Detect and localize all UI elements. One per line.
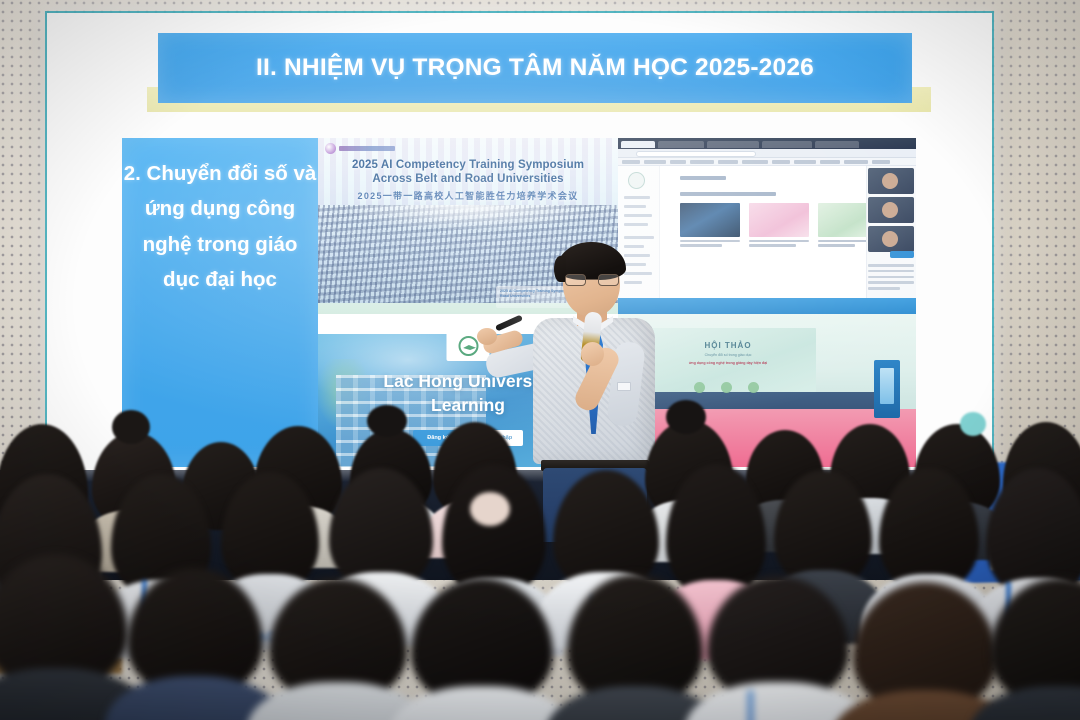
browser-tab: [762, 141, 812, 148]
participant-tiles: [868, 168, 914, 255]
bookmark-item: [794, 160, 816, 164]
symposium-title-line1: 2025 AI Competency Training Symposium: [318, 159, 618, 171]
meeting-action-button: [890, 251, 914, 258]
browser-tabs: [621, 141, 859, 148]
audience-person: [560, 570, 710, 720]
sidebar-item: [624, 214, 652, 217]
course-thumbnail: [749, 203, 809, 237]
browser-bookmarks-bar: [618, 158, 916, 166]
course-thumbnail: [680, 203, 740, 237]
slide-title-text: II. NHIỆM VỤ TRỌNG TÂM NĂM HỌC 2025-2026: [256, 54, 814, 82]
bookmark-item: [644, 160, 666, 164]
bookmark-item: [690, 160, 714, 164]
meeting-notes-list: [868, 264, 914, 293]
sidebar-item: [624, 223, 648, 226]
meeting-participants-panel: [866, 166, 916, 298]
audience-person: [120, 562, 270, 720]
symposium-title-chinese: 2025一带一路高校人工智能胜任力培养学术会议: [318, 189, 618, 202]
sidebar-item: [624, 236, 654, 239]
sidebar-item: [624, 196, 650, 199]
audience-person: [700, 570, 856, 720]
audience-person: [846, 576, 1004, 720]
audience-person: [984, 572, 1080, 720]
browser-tab: [621, 141, 655, 148]
participant-video-tile: [868, 168, 914, 194]
sidebar-item: [624, 205, 646, 208]
presenter-name-badge: [617, 382, 631, 391]
content-heading-line: [680, 176, 726, 180]
presenter-left-hand: [477, 328, 497, 345]
bookmark-item: [742, 160, 768, 164]
symposium-title-line2: Across Belt and Road Universities: [318, 173, 618, 185]
bookmark-item: [772, 160, 790, 164]
glasses-icon: [565, 274, 619, 286]
browser-tab: [815, 141, 859, 148]
laser-pointer: [495, 315, 523, 332]
content-section-title: [680, 192, 776, 196]
browser-tab: [658, 141, 704, 148]
seated-audience: LẠC HỒNG LẠC HỒNG: [0, 420, 1080, 720]
course-caption: [749, 240, 809, 247]
browser-tab-strip: [618, 138, 916, 149]
symposium-logo-mark: [325, 143, 336, 154]
bookmark-item: [844, 160, 868, 164]
lms-content-area: [664, 170, 864, 296]
participant-video-tile: [868, 226, 914, 252]
audience-person: [404, 574, 560, 720]
bookmark-item: [820, 160, 840, 164]
bookmark-item: [718, 160, 738, 164]
slide-caption-panel: 2. Chuyển đổi số và ứng dụng công nghệ t…: [122, 138, 318, 467]
course-card-grid: [680, 203, 878, 248]
logo-bird-icon: [458, 336, 478, 356]
bookmark-item: [622, 160, 640, 164]
audience-person: [0, 550, 136, 720]
browser-address-bar: [618, 149, 916, 158]
bookmark-item: [872, 160, 890, 164]
bookmark-item: [670, 160, 686, 164]
slide-title-band: II. NHIỆM VỤ TRỌNG TÂM NĂM HỌC 2025-2026: [158, 33, 912, 103]
slide-caption-text: 2. Chuyển đổi số và ứng dụng công nghệ t…: [122, 156, 318, 297]
roll-up-banner: [874, 360, 900, 418]
audience-person: [262, 572, 414, 720]
symposium-logo: [325, 143, 395, 154]
presenter-right-hand: [581, 342, 604, 366]
participant-video-tile: [868, 197, 914, 223]
photograph-scene: II. NHIỆM VỤ TRỌNG TÂM NĂM HỌC 2025-2026…: [0, 0, 1080, 720]
symposium-logo-wordmark: [339, 146, 395, 151]
course-card: [749, 203, 809, 248]
browser-tab: [707, 141, 759, 148]
lms-avatar: [628, 172, 645, 189]
browser-url-field: [636, 151, 756, 157]
